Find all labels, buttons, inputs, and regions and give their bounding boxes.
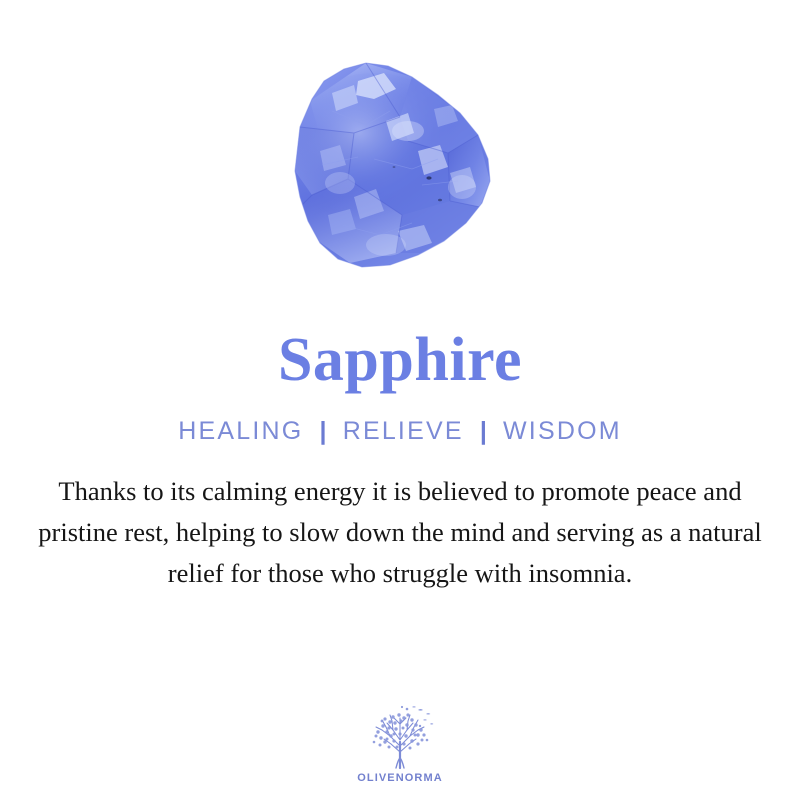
keyword-separator-1: | bbox=[313, 417, 334, 445]
description-text: Thanks to its calming energy it is belie… bbox=[35, 471, 765, 594]
keyword-relieve: RELIEVE bbox=[343, 417, 464, 445]
raw-sapphire-crystal-icon bbox=[262, 55, 512, 293]
sapphire-crystal-image bbox=[262, 55, 512, 293]
brand-logo: OLIVENORMA bbox=[0, 702, 800, 784]
keyword-line: HEALING | RELIEVE | WISDOM bbox=[178, 419, 622, 444]
tree-logo-icon bbox=[360, 702, 440, 772]
keyword-healing: HEALING bbox=[178, 417, 303, 445]
brand-name: OLIVENORMA bbox=[357, 773, 443, 784]
gemstone-info-card: Sapphire HEALING | RELIEVE | WISDOM Than… bbox=[0, 0, 800, 800]
hero-section bbox=[0, 0, 800, 325]
keyword-separator-2: | bbox=[473, 417, 494, 445]
keyword-wisdom: WISDOM bbox=[503, 417, 622, 445]
page-title: Sapphire bbox=[278, 325, 522, 395]
